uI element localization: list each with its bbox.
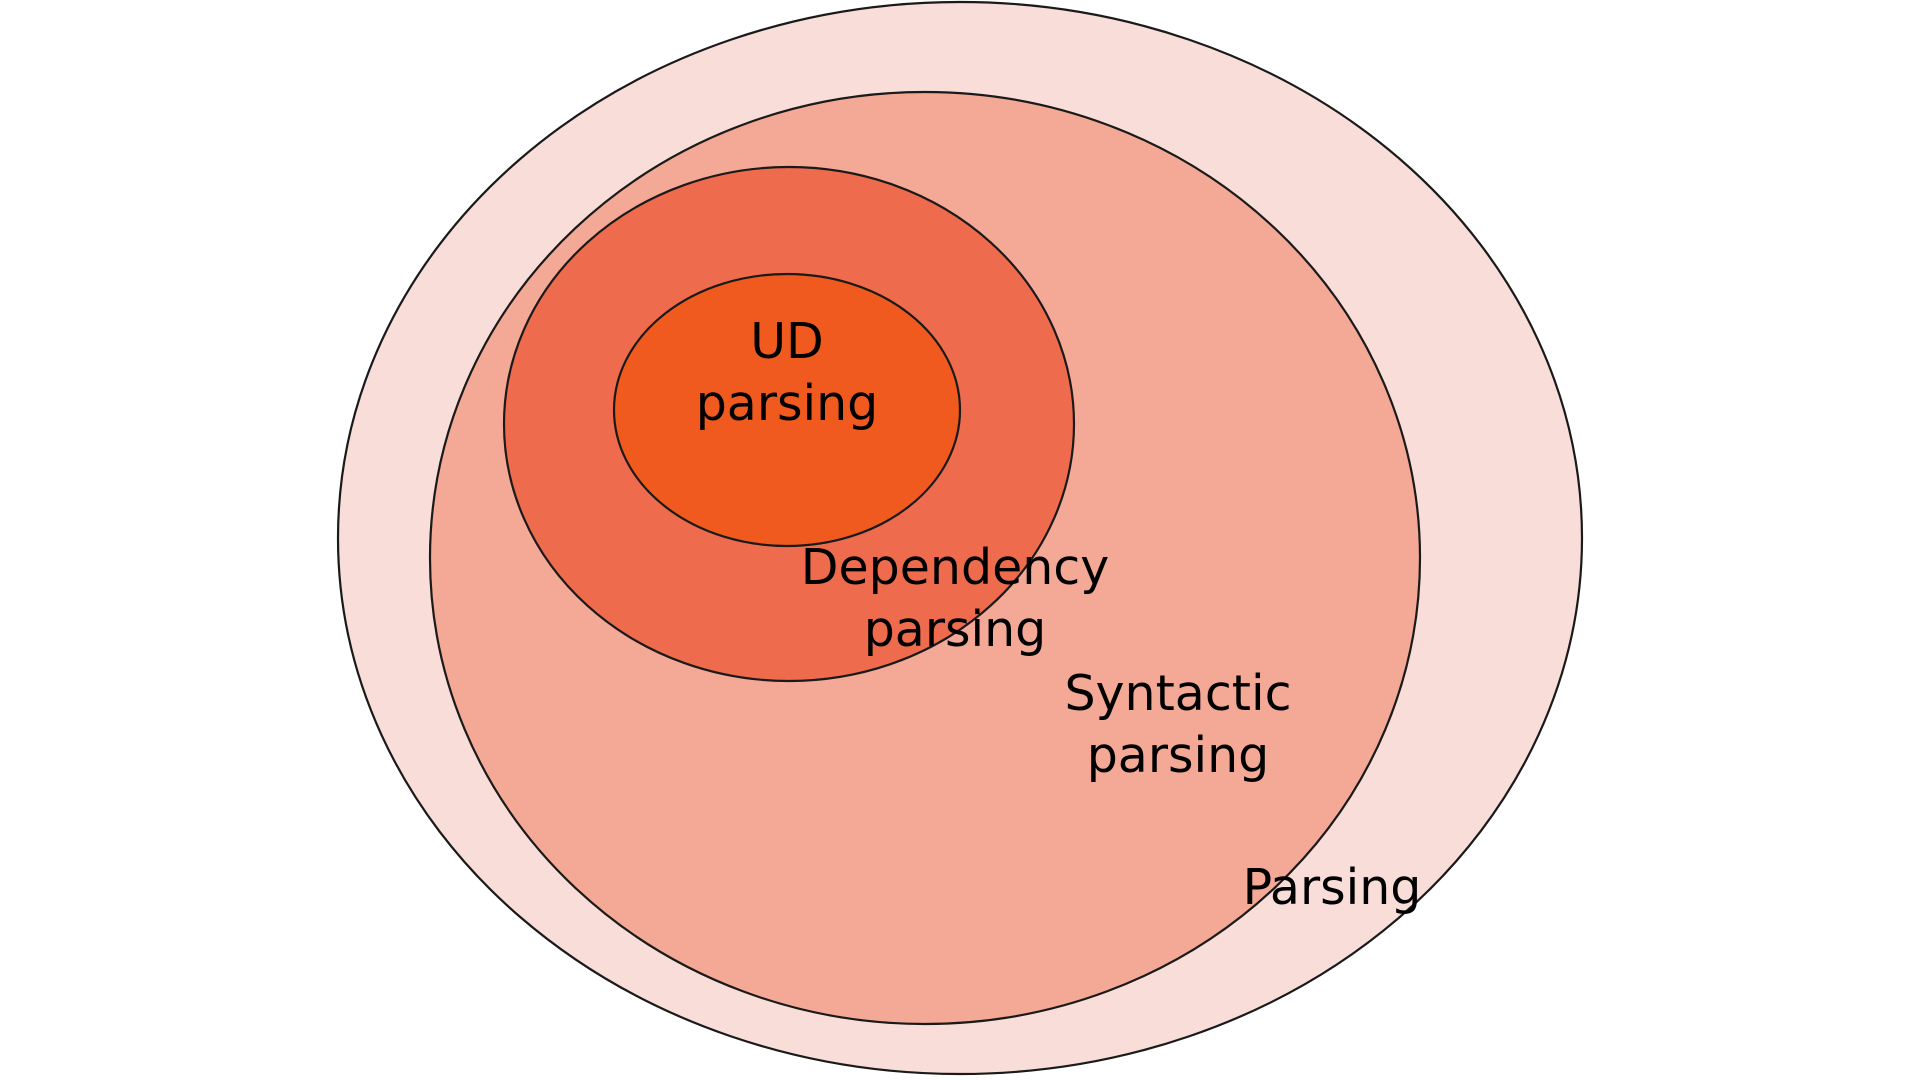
label-line: parsing [696,375,879,432]
euler-diagram-canvas: Parsing Syntacticparsing Dependencyparsi… [0,0,1920,1080]
label-line: Syntactic [1064,665,1291,722]
label-line: UD [750,313,824,370]
label-line: parsing [1087,727,1270,784]
label-line: parsing [864,601,1047,658]
nested-ellipse-diagram: Parsing Syntacticparsing Dependencyparsi… [0,0,1920,1080]
label-line: Parsing [1243,859,1422,916]
label-line: Dependency [801,539,1109,596]
label-parsing: Parsing [1243,859,1422,916]
